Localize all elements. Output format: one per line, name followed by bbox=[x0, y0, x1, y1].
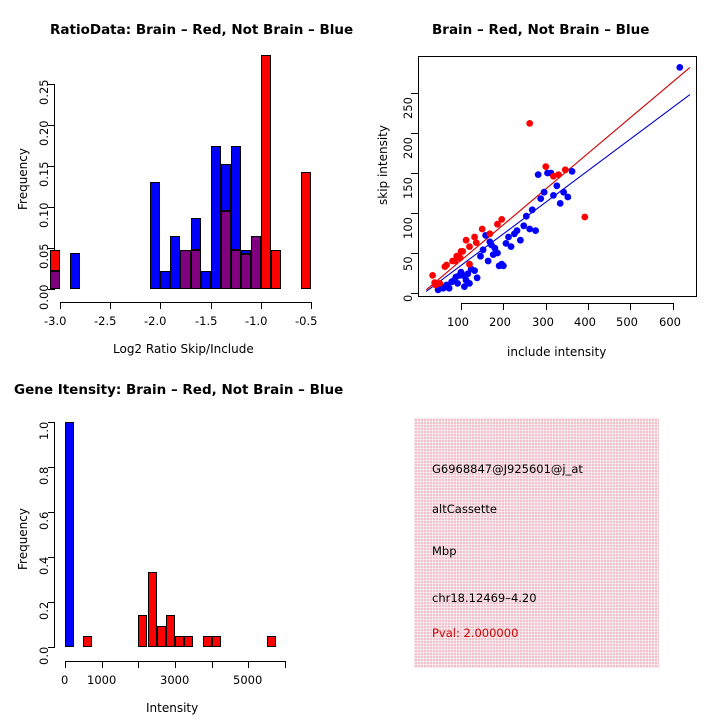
histogram-bar bbox=[166, 615, 175, 647]
histogram-bar bbox=[191, 218, 201, 250]
scatter-point bbox=[562, 166, 569, 173]
scatter-point bbox=[498, 216, 505, 223]
x-tick-label: -1.5 bbox=[195, 314, 217, 328]
scatter-point bbox=[486, 230, 493, 237]
panel-gene-intensity-histogram: Gene Itensity: Brain – Red, Not Brain – … bbox=[0, 360, 360, 720]
scatter-point bbox=[535, 171, 542, 178]
info-probe-id: G6968847@J925601@j_at bbox=[432, 462, 583, 476]
y-tick bbox=[411, 93, 418, 94]
histogram-bar bbox=[180, 250, 190, 289]
scatter-point bbox=[508, 243, 515, 250]
scatter-point bbox=[477, 253, 484, 260]
histogram-bar bbox=[160, 271, 170, 289]
y-tick-label: 250 bbox=[401, 97, 415, 119]
histogram-bar bbox=[271, 250, 281, 289]
scatter-point bbox=[466, 280, 473, 287]
x-tick bbox=[65, 661, 66, 668]
scatter-point bbox=[542, 163, 549, 170]
histogram-bar bbox=[170, 236, 180, 289]
regression-line bbox=[426, 67, 690, 289]
x-tick-label: 400 bbox=[574, 315, 596, 329]
scatter-point bbox=[550, 192, 557, 199]
x-tick-label: 1000 bbox=[87, 673, 116, 687]
scatter-point bbox=[569, 168, 576, 175]
x-tick-label: 300 bbox=[532, 315, 554, 329]
x-tick bbox=[175, 661, 176, 668]
scatter-point bbox=[436, 280, 443, 287]
scatter-point bbox=[514, 227, 521, 234]
x-tick-label: 5000 bbox=[233, 673, 262, 687]
y-tick-label: 100 bbox=[401, 217, 415, 239]
scatter-point bbox=[463, 237, 470, 244]
scatter-point bbox=[480, 246, 487, 253]
histogram-bar bbox=[203, 636, 212, 647]
scatter-point bbox=[466, 243, 473, 250]
histogram-bar bbox=[138, 615, 147, 647]
x-tick-label: -0.5 bbox=[295, 314, 317, 328]
x-tick bbox=[102, 661, 103, 668]
histogram-bar bbox=[50, 271, 60, 289]
scatter-point bbox=[429, 272, 436, 279]
scatter-point bbox=[474, 274, 481, 281]
scatter-point bbox=[446, 285, 453, 292]
y-tick bbox=[411, 173, 418, 174]
x-tick-label: -3.0 bbox=[44, 314, 66, 328]
panel-intensity-scatter: Brain – Red, Not Brain – Blue skip inten… bbox=[360, 0, 720, 360]
scatter-point bbox=[676, 64, 683, 71]
info-event-type: altCassette bbox=[432, 502, 497, 516]
x-tick bbox=[60, 302, 61, 309]
x-tick-label: 600 bbox=[659, 315, 681, 329]
histogram-bar bbox=[241, 254, 251, 289]
x-tick-label: 100 bbox=[447, 315, 469, 329]
x-tick-label: 3000 bbox=[160, 673, 189, 687]
panel-gene-info: G6968847@J925601@j_at altCassette Mbp ch… bbox=[414, 418, 659, 668]
axis-label-x-include-intensity: include intensity bbox=[507, 345, 606, 359]
info-locus: chr18.12469–4.20 bbox=[432, 591, 537, 605]
axis-label-x-intensity: Intensity bbox=[146, 701, 198, 715]
regression-line bbox=[426, 95, 690, 292]
x-tick-label: 0 bbox=[61, 673, 68, 687]
scatter-point bbox=[471, 267, 478, 274]
y-tick-label: 150 bbox=[401, 177, 415, 199]
info-pval: Pval: 2.000000 bbox=[432, 626, 518, 640]
scatter-point bbox=[526, 226, 533, 233]
x-tick bbox=[138, 661, 139, 668]
y-tick-label: 50 bbox=[401, 256, 415, 271]
x-tick bbox=[461, 303, 462, 310]
scatter-point bbox=[532, 227, 539, 234]
x-tick bbox=[285, 661, 286, 668]
x-tick bbox=[630, 303, 631, 310]
histogram-bar bbox=[231, 250, 241, 289]
histogram-bar bbox=[70, 253, 80, 289]
histogram-bar bbox=[191, 250, 201, 289]
scatter-point bbox=[454, 280, 461, 287]
info-gene-symbol: Mbp bbox=[432, 544, 457, 558]
x-tick bbox=[212, 661, 213, 668]
y-tick bbox=[411, 133, 418, 134]
x-tick-label: 500 bbox=[616, 315, 638, 329]
histogram-bar bbox=[211, 146, 221, 289]
histogram-bar bbox=[251, 236, 261, 289]
scatter-point bbox=[529, 206, 536, 213]
y-tick bbox=[411, 253, 418, 254]
x-tick-label: -2.5 bbox=[94, 314, 116, 328]
scatter-point bbox=[520, 222, 527, 229]
x-tick bbox=[673, 303, 674, 310]
x-tick bbox=[546, 303, 547, 310]
scatter-point bbox=[457, 254, 464, 261]
histogram-bar bbox=[212, 636, 221, 647]
scatter-point bbox=[479, 226, 486, 233]
x-tick-label: -2.0 bbox=[144, 314, 166, 328]
scatter-point bbox=[500, 262, 507, 269]
histogram-bar bbox=[301, 172, 311, 289]
x-axis-line bbox=[461, 303, 674, 304]
x-tick bbox=[160, 302, 161, 309]
panel-ratio-histogram: RatioData: Brain – Red, Not Brain – Blue… bbox=[0, 0, 360, 360]
x-tick-label: 200 bbox=[489, 315, 511, 329]
x-tick bbox=[503, 303, 504, 310]
y-tick-label: 200 bbox=[401, 137, 415, 159]
x-tick bbox=[211, 302, 212, 309]
axis-label-x-log2ratio: Log2 Ratio Skip/Include bbox=[113, 342, 254, 356]
x-tick bbox=[588, 303, 589, 310]
histogram-bar bbox=[221, 164, 231, 212]
scatter-point bbox=[526, 120, 533, 127]
scatter-point bbox=[466, 261, 473, 268]
histogram-bar bbox=[201, 271, 211, 289]
histogram-bar bbox=[184, 636, 193, 647]
x-axis-line bbox=[60, 302, 312, 303]
scatter-point bbox=[517, 237, 524, 244]
scatter-point bbox=[564, 194, 571, 201]
scatter-point bbox=[505, 234, 512, 241]
scatter-point bbox=[459, 248, 466, 255]
scatter-point bbox=[555, 171, 562, 178]
scatter-point bbox=[473, 239, 480, 246]
histogram-bar bbox=[50, 250, 60, 271]
y-tick-label: 0 bbox=[401, 295, 415, 302]
histogram-bar bbox=[157, 626, 166, 647]
histogram-bar bbox=[148, 572, 157, 647]
histogram-bar bbox=[150, 182, 160, 289]
scatter-point bbox=[537, 195, 544, 202]
histogram-bar bbox=[175, 636, 184, 647]
scatter-point bbox=[557, 200, 564, 207]
x-tick-label: -1.0 bbox=[245, 314, 267, 328]
y-tick bbox=[411, 213, 418, 214]
scatter-point bbox=[523, 213, 530, 220]
x-tick bbox=[311, 302, 312, 309]
x-tick bbox=[248, 661, 249, 668]
scatter-point bbox=[541, 189, 548, 196]
scatter-point bbox=[581, 214, 588, 221]
scatter-point bbox=[443, 262, 450, 269]
scatter-point bbox=[553, 182, 560, 189]
x-tick bbox=[110, 302, 111, 309]
histogram-bar bbox=[65, 422, 74, 647]
histogram-bar bbox=[221, 211, 231, 289]
histogram-bars-ratio bbox=[0, 0, 360, 360]
scatter-point bbox=[494, 250, 501, 257]
histogram-bars-gene-intensity bbox=[0, 360, 360, 720]
histogram-bar bbox=[241, 250, 251, 254]
histogram-bar bbox=[83, 636, 92, 647]
histogram-bar bbox=[261, 55, 271, 289]
x-tick bbox=[261, 302, 262, 309]
figure-canvas: RatioData: Brain – Red, Not Brain – Blue… bbox=[0, 0, 720, 720]
histogram-bar bbox=[231, 146, 241, 249]
histogram-bar bbox=[267, 636, 276, 647]
scatter-point bbox=[485, 258, 492, 265]
